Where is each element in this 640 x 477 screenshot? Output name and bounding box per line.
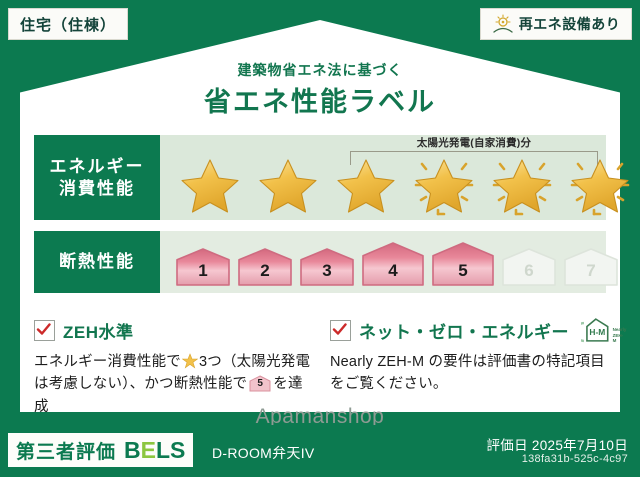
check-icon [34, 320, 55, 341]
star-base [252, 152, 324, 216]
solar-generation-caption: 太陽光発電(自家消費)分 [350, 135, 598, 150]
insulation-level-7: 7 [562, 247, 620, 287]
inline-house-value: 5 [249, 376, 271, 392]
label-title: 省エネ性能ラベル [0, 80, 640, 119]
energy-label-line2: 消費性能 [59, 178, 135, 200]
insulation-level-scale: 1 2 3 4 5 [174, 237, 620, 287]
insulation-level-4: 4 [360, 241, 426, 287]
star-base [330, 152, 402, 216]
zeh-standard-title: ZEH水準 [63, 318, 134, 343]
insulation-label-line1: 断熱性能 [59, 251, 135, 273]
insulation-performance-label: 断熱性能 [34, 231, 160, 293]
footer-bar: 第三者評価 BELS D-ROOM弁天IV 評価日 2025年7月10日 138… [0, 425, 640, 477]
bels-letter-b: B [124, 437, 141, 463]
check-icon [330, 320, 351, 341]
insulation-level-3: 3 [298, 247, 356, 287]
insulation-level-1: 1 [174, 247, 232, 287]
bels-letter-e: E [141, 437, 156, 463]
insulation-level-value: 5 [430, 261, 496, 281]
star-solar [486, 152, 558, 216]
net-zero-energy-title: ネット・ゼロ・エネルギー [359, 318, 569, 343]
evaluation-date: 評価日 2025年7月10日 [486, 434, 628, 454]
bels-letter-s: S [170, 437, 185, 463]
net-zero-energy-block: ネット・ゼロ・エネルギー H-M Nearly ZEH-M Nearly ZEH… [330, 318, 610, 396]
zeh-standard-block: ZEH水準 エネルギー消費性能で3つ（太陽光発電は考慮しない）、かつ断熱性能で5… [34, 318, 314, 418]
insulation-level-5: 5 [430, 241, 496, 287]
insulation-level-value: 6 [500, 261, 558, 281]
star-base [174, 152, 246, 216]
insulation-level-value: 3 [298, 261, 356, 281]
zeh-standard-head: ZEH水準 [34, 318, 314, 342]
net-zero-energy-body: Nearly ZEH-M の要件は評価書の特記項目をご覧ください。 [330, 351, 610, 396]
insulation-level-2: 2 [236, 247, 294, 287]
insulation-level-value: 7 [562, 261, 620, 281]
bels-en-label: BELS [124, 437, 185, 464]
zeh-m-logo-sub: Nearly ZEH-M [613, 327, 627, 343]
energy-label-line1: エネルギー [50, 156, 145, 178]
inline-house-badge: 5 [249, 375, 271, 392]
net-zero-energy-head: ネット・ゼロ・エネルギー H-M Nearly ZEH-M [330, 318, 610, 342]
energy-star-rating [174, 150, 598, 216]
insulation-level-value: 4 [360, 261, 426, 281]
insulation-level-6: 6 [500, 247, 558, 287]
star-solar [408, 152, 480, 216]
zeh-body-part1: エネルギー消費性能で [34, 354, 181, 370]
bels-jp-label: 第三者評価 [16, 437, 116, 464]
housing-type-label: 住宅（住棟） [20, 14, 116, 35]
housing-type-tag: 住宅（住棟） [8, 8, 128, 40]
energy-performance-label: エネルギー 消費性能 [34, 135, 160, 220]
evaluation-id: 138fa31b-525c-4c97 [522, 453, 628, 465]
building-name: D-ROOM弁天IV [212, 443, 315, 463]
zeh-m-sub-line2: ZEH-M [613, 333, 624, 343]
insulation-level-value: 1 [174, 261, 232, 281]
renewable-equipment-label: 再エネ設備あり [519, 14, 621, 34]
insulation-level-value: 2 [236, 261, 294, 281]
bels-badge: 第三者評価 BELS [8, 433, 193, 467]
label-subtitle: 建築物省エネ法に基づく [0, 60, 640, 80]
energy-performance-body: 太陽光発電(自家消費)分 [160, 135, 606, 220]
label-root: 住宅（住棟） 再エネ設備あり 建築物省エネ法に基づく 省エネ性能ラベル [0, 0, 640, 477]
svg-text:H-M: H-M [589, 327, 605, 337]
insulation-performance-row: 断熱性能 1 2 3 [34, 231, 606, 293]
energy-performance-row: エネルギー 消費性能 太陽光発電(自家消費)分 [34, 135, 606, 220]
sun-icon [492, 14, 514, 34]
renewable-equipment-tag: 再エネ設備あり [480, 8, 632, 40]
star-solar [564, 152, 636, 216]
insulation-performance-body: 1 2 3 4 5 [160, 231, 606, 293]
inline-star-icon [182, 353, 198, 369]
bels-letter-l: L [156, 437, 170, 463]
zeh-m-logo: H-M Nearly ZEH-M [581, 317, 627, 343]
